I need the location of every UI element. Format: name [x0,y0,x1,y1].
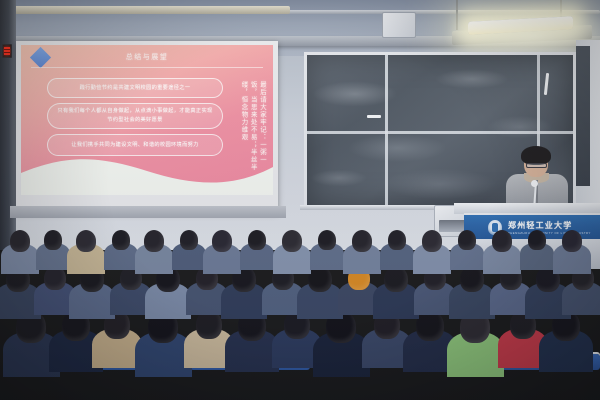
wave-decoration [21,153,273,195]
led-digits [4,47,10,55]
student-head [388,230,406,250]
slide-title: 总结与展望 [21,52,273,62]
chalk-piece [367,115,381,118]
slide-bullet-text: 只有我们每个人都从自身做起，从点滴小事做起，才能真正实现节约型社会的美好愿景 [56,107,214,125]
student-head [384,266,408,292]
blackboard-divider [537,55,540,131]
student-head [248,230,266,250]
student-head [318,230,336,250]
student-head [180,230,198,250]
blackboard-divider [385,55,388,131]
student-head [212,230,232,252]
slide-bullet-2: 只有我们每个人都从自身做起，从点滴小事做起，才能真正实现节约型社会的美好愿景 [47,103,223,129]
student-head [352,230,372,252]
student-head [44,230,62,250]
student-head [562,230,582,252]
student-head [112,230,130,250]
student-head [282,230,302,252]
lecture-hall-photo: 总结与展望 践行勤俭节约是共建文明校园的重要途径之一 只有我们每个人都从自身做起… [0,0,600,400]
lamp-rod [456,0,458,30]
student-head [528,230,546,250]
red-led-display [2,44,12,58]
wall-junction-box [382,12,416,38]
student-head [144,230,164,252]
presentation-slide: 总结与展望 践行勤俭节约是共建文明校园的重要途径之一 只有我们每个人都从自身做起… [21,45,273,195]
blackboard-divider [385,131,388,205]
blackboard-divider [307,131,573,134]
student-head [76,230,96,252]
ceiling-conduit [0,6,290,14]
student-head [10,230,30,252]
slide-divider [31,67,263,68]
seated-students [0,214,600,400]
slide-bullet-text: 让我们携手共同为建设文明、和谐的校园环境而努力 [71,141,198,150]
slide-bullet-1: 践行勤俭节约是共建文明校园的重要途径之一 [47,78,223,98]
glasses-icon [526,163,547,168]
ceiling-conduit [280,10,600,14]
student-head [492,230,512,252]
slide-bullet-text: 践行勤俭节约是共建文明校园的重要途径之一 [80,84,191,93]
right-doorway [576,46,590,186]
student-head [458,230,476,250]
student-head [422,230,442,252]
student-head [460,266,484,292]
student-head [308,266,332,292]
microphone-icon [531,180,538,187]
